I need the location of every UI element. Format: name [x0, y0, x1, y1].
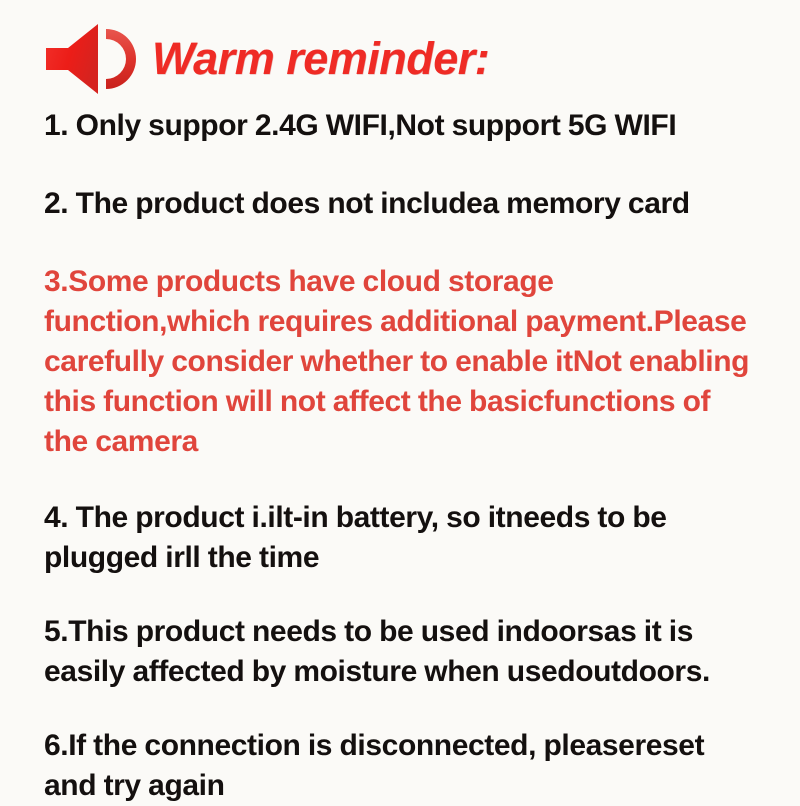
notice-item-1: 1. Only suppor 2.4G WIFI,Not support 5G …	[44, 106, 760, 146]
notice-item-3: 3.Some products have cloud storage funct…	[44, 262, 760, 462]
page-title: Warm reminder:	[152, 34, 489, 84]
header: Warm reminder:	[0, 0, 800, 84]
warm-reminder-page: Warm reminder: 1. Only suppor 2.4G WIFI,…	[0, 0, 800, 800]
notice-item-5: 5.This product needs to be used indoorsa…	[44, 612, 760, 692]
notice-item-2: 2. The product does not includea memory …	[44, 184, 760, 224]
notice-item-4: 4. The product i.ilt-in battery, so itne…	[44, 498, 760, 578]
notice-list: 1. Only suppor 2.4G WIFI,Not support 5G …	[0, 84, 800, 806]
speaker-icon	[40, 19, 144, 99]
notice-item-6: 6.If the connection is disconnected, ple…	[44, 726, 760, 806]
